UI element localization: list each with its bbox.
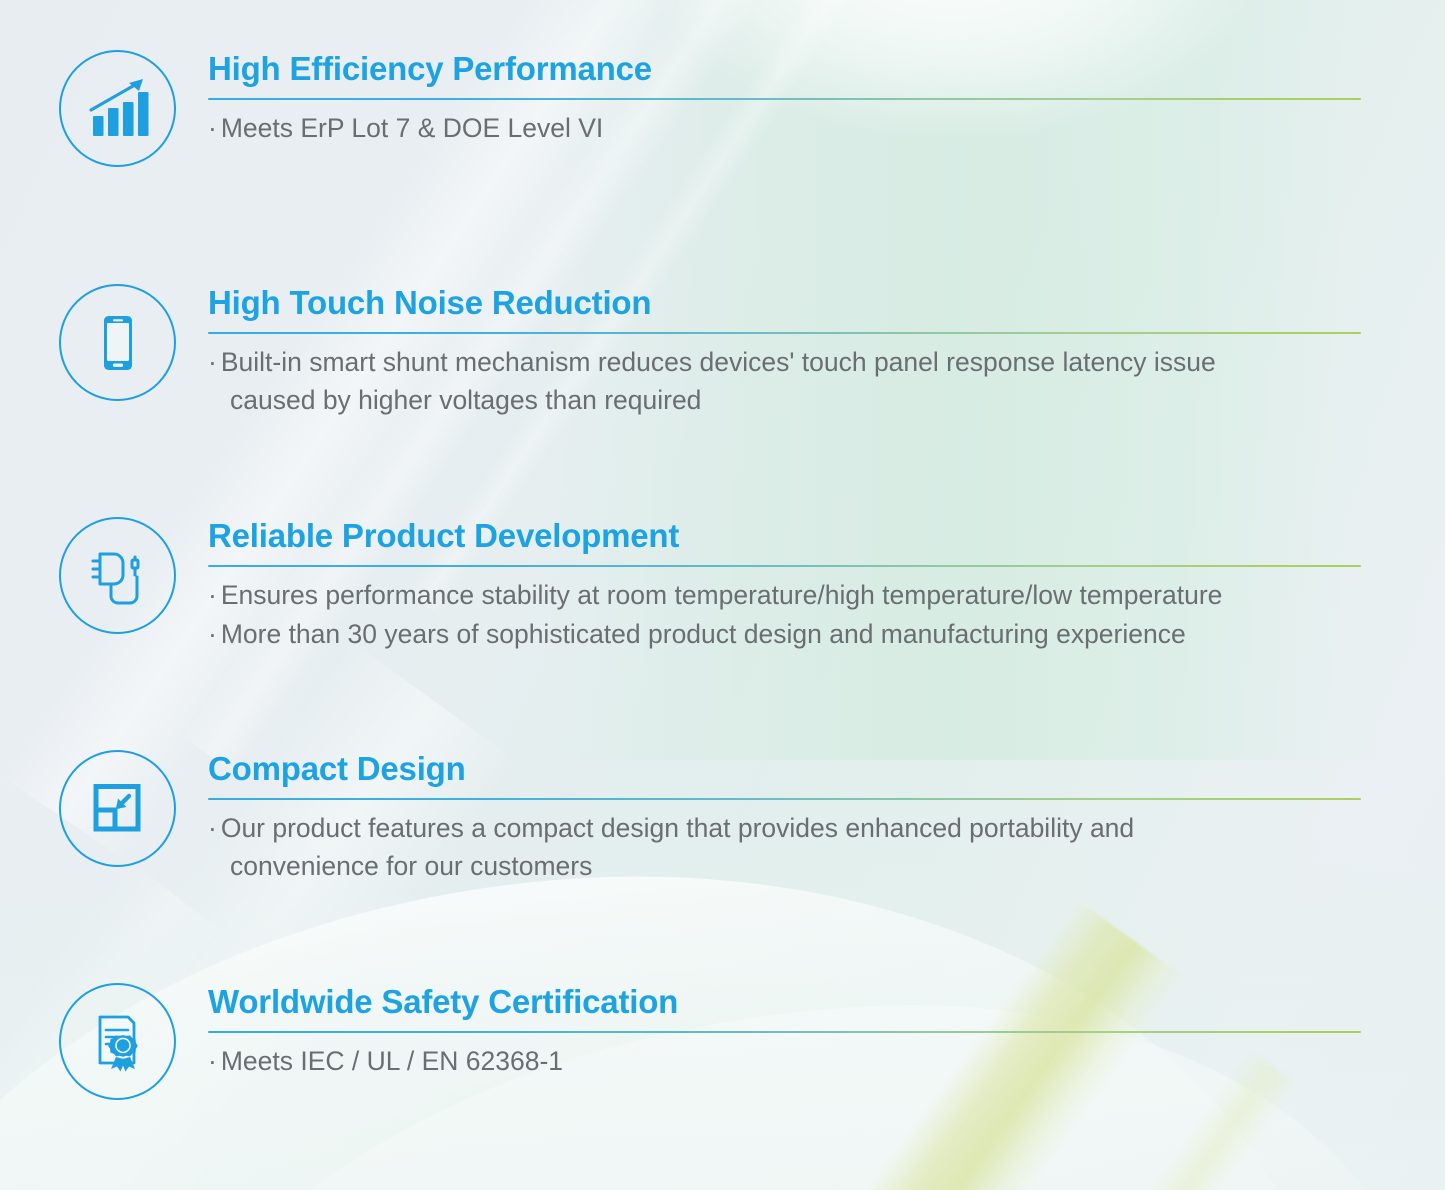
feature-bullet: ·Ensures performance stability at room t… [208, 576, 1361, 614]
bullet-marker: · [208, 580, 221, 610]
feature-bullet: ·Meets IEC / UL / EN 62368-1 [208, 1042, 1361, 1080]
feature-item-compact-design: Compact Design ·Our product features a c… [55, 748, 1361, 885]
feature-text: Reliable Product Development ·Ensures pe… [180, 515, 1361, 653]
feature-icon-wrapper [55, 515, 180, 634]
feature-title: Compact Design [208, 750, 1361, 789]
feature-bullet: ·More than 30 years of sophisticated pro… [208, 615, 1361, 653]
feature-divider [208, 1031, 1361, 1033]
feature-list: High Efficiency Performance ·Meets ErP L… [0, 0, 1445, 1190]
feature-divider [208, 798, 1361, 800]
feature-bullet-text: Built-in smart shunt mechanism reduces d… [221, 347, 1216, 377]
feature-divider [208, 565, 1361, 567]
bullet-marker: · [208, 1046, 221, 1076]
feature-bullet-text: Meets ErP Lot 7 & DOE Level VI [221, 113, 603, 143]
feature-title: High Efficiency Performance [208, 50, 1361, 89]
feature-divider [208, 332, 1361, 334]
feature-item-worldwide-safety-certification: Worldwide Safety Certification ·Meets IE… [55, 981, 1361, 1100]
feature-bullet-wrap: convenience for our customers [208, 847, 1361, 885]
feature-bullet: ·Meets ErP Lot 7 & DOE Level VI [208, 109, 1361, 147]
bullet-marker: · [208, 347, 221, 377]
feature-bullet-text: More than 30 years of sophisticated prod… [221, 619, 1186, 649]
compress-arrow-icon [59, 750, 176, 867]
feature-bullet-text: Our product features a compact design th… [221, 813, 1134, 843]
feature-text: High Touch Noise Reduction ·Built-in sma… [180, 282, 1361, 419]
feature-title: Reliable Product Development [208, 517, 1361, 556]
certificate-seal-icon [59, 983, 176, 1100]
feature-item-high-efficiency-performance: High Efficiency Performance ·Meets ErP L… [55, 48, 1361, 167]
feature-icon-wrapper [55, 981, 180, 1100]
feature-bullet-text: Ensures performance stability at room te… [221, 580, 1223, 610]
feature-bullet-wrap: caused by higher voltages than required [208, 381, 1361, 419]
power-adapter-icon [59, 517, 176, 634]
bullet-marker: · [208, 619, 221, 649]
bar-chart-growth-icon [59, 50, 176, 167]
feature-item-reliable-product-development: Reliable Product Development ·Ensures pe… [55, 515, 1361, 653]
feature-list-page: High Efficiency Performance ·Meets ErP L… [0, 0, 1445, 1190]
feature-text: Worldwide Safety Certification ·Meets IE… [180, 981, 1361, 1080]
feature-text: High Efficiency Performance ·Meets ErP L… [180, 48, 1361, 147]
bullet-marker: · [208, 813, 221, 843]
feature-icon-wrapper [55, 282, 180, 401]
feature-divider [208, 98, 1361, 100]
feature-item-high-touch-noise-reduction: High Touch Noise Reduction ·Built-in sma… [55, 282, 1361, 419]
feature-text: Compact Design ·Our product features a c… [180, 748, 1361, 885]
feature-bullet: ·Our product features a compact design t… [208, 809, 1361, 847]
feature-title: Worldwide Safety Certification [208, 983, 1361, 1022]
feature-icon-wrapper [55, 48, 180, 167]
feature-bullet: ·Built-in smart shunt mechanism reduces … [208, 343, 1361, 381]
bullet-marker: · [208, 113, 221, 143]
feature-title: High Touch Noise Reduction [208, 284, 1361, 323]
smartphone-icon [59, 284, 176, 401]
feature-bullet-text: Meets IEC / UL / EN 62368-1 [221, 1046, 563, 1076]
feature-icon-wrapper [55, 748, 180, 867]
